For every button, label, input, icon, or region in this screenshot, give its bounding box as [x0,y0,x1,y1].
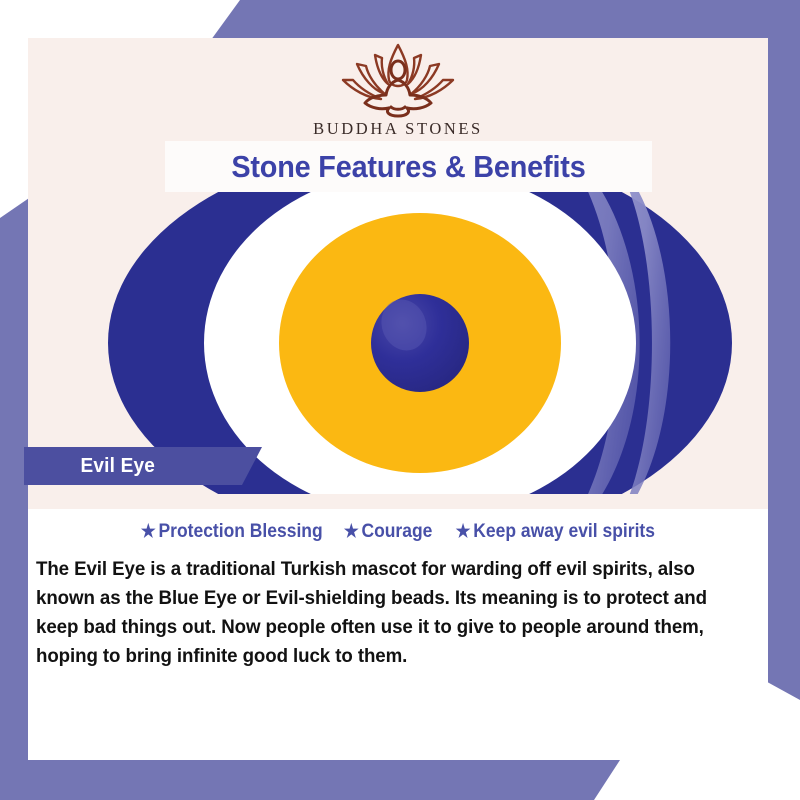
brand-header: BUDDHA STONES [28,38,768,144]
section-title-band: Stone Features & Benefits [165,141,652,193]
benefit-label: Courage [362,521,433,543]
decorative-band-bottom [0,760,620,800]
benefit-item-protection-blessing: ★ Protection Blessing [141,521,323,543]
description-text: The Evil Eye is a traditional Turkish ma… [36,555,731,670]
lotus-meditation-icon [337,40,459,118]
page-title: Stone Features & Benefits [231,149,585,185]
star-icon: ★ [141,521,156,542]
brand-wordmark: BUDDHA STONES [313,119,483,139]
evil-eye-ribbon: Evil Eye [24,447,262,485]
benefits-list: ★ Protection Blessing ★ Courage ★ Keep a… [28,521,768,543]
benefit-item-courage: ★ Courage [344,521,433,543]
content-card: ★ Protection Blessing ★ Courage ★ Keep a… [28,509,768,760]
star-icon: ★ [455,521,470,542]
benefit-label: Protection Blessing [158,521,322,543]
poster-root: BUDDHA STONES Stone Features & Benefits [0,0,800,800]
evil-eye-ribbon-label: Evil Eye [27,455,155,478]
benefit-item-keep-away-evil-spirits: ★ Keep away evil spirits [455,521,654,543]
benefit-label: Keep away evil spirits [473,521,655,543]
star-icon: ★ [344,521,359,542]
